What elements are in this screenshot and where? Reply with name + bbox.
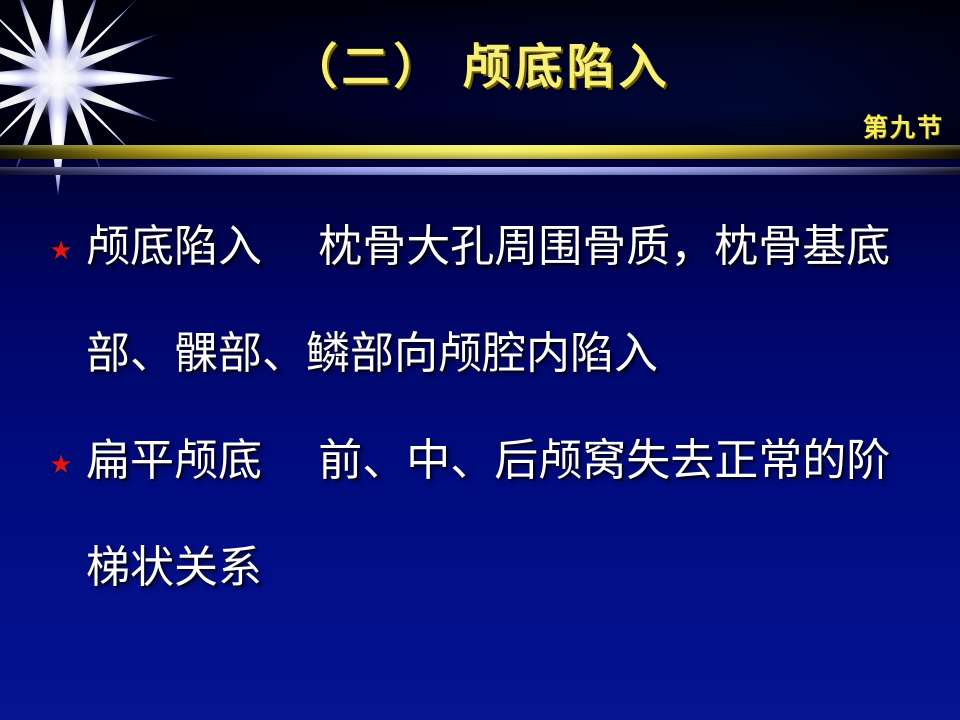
- section-label: 第九节: [863, 108, 944, 144]
- body-line-4: 梯状关系: [86, 546, 262, 590]
- star-bullet-icon: ★: [48, 237, 74, 263]
- body-line-3: 扁平颅底 前、中、后颅窝失去正常的阶: [86, 439, 890, 483]
- gold-divider-sheen: [0, 145, 960, 159]
- slide-body: ★ 颅底陷入 枕骨大孔周围骨质，枕骨基底 部、髁部、鳞部向颅腔内陷入 ★ 扁平颅…: [0, 205, 960, 645]
- body-line-2: 部、髁部、鳞部向颅腔内陷入: [86, 332, 658, 376]
- lavender-divider-sheen: [0, 167, 960, 175]
- body-line-1: 颅底陷入 枕骨大孔周围骨质，枕骨基底: [86, 225, 890, 269]
- slide-title: （二） 颅底陷入: [0, 44, 960, 92]
- star-bullet-icon: ★: [48, 451, 74, 477]
- presentation-slide: （二） 颅底陷入 第九节 ★ 颅底陷入 枕骨大孔周围骨质，枕骨基底 部、髁部、鳞…: [0, 0, 960, 720]
